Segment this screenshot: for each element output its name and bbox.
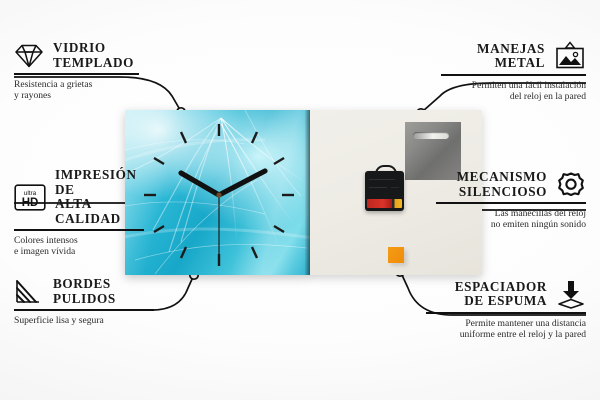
feature-title: MANEJAS METAL (477, 42, 545, 71)
feature-vidrio-templado: VIDRIO TEMPLADO Resistencia a grietas y … (14, 41, 139, 102)
polished-edges-icon (14, 279, 44, 305)
picture-hanger-icon (554, 41, 586, 71)
ultra-hd-icon: ultra HD (14, 184, 46, 211)
feature-description: Permite mantener una distancia uniforme … (426, 318, 586, 341)
feature-rule (14, 73, 139, 75)
feature-manejas-metal: MANEJAS METAL Permiten una fácil instala… (441, 41, 586, 103)
feature-description: Colores intensos e imagen vívida (14, 235, 144, 258)
feature-espaciador-espuma: ESPACIADOR DE ESPUMA Permite mantener un… (426, 279, 586, 341)
feature-impresion-alta-calidad: ultra HD IMPRESIÓN DE ALTA CALIDAD Color… (14, 168, 144, 258)
clock-dial (125, 110, 310, 275)
feature-title: MECANISMO SILENCIOSO (457, 170, 547, 199)
foam-spacer (388, 247, 404, 263)
hanger-keyhole-slot (413, 132, 449, 139)
infographic-canvas: VIDRIO TEMPLADO Resistencia a grietas y … (0, 0, 600, 400)
diamond-icon (14, 43, 44, 69)
foam-spacer-arrow-icon (556, 279, 586, 309)
gear-icon (556, 170, 586, 199)
feature-description: Resistencia a grietas y rayones (14, 79, 139, 102)
battery-label (367, 199, 402, 208)
hands-hub (216, 192, 221, 197)
feature-description: Permiten una fácil instalación del reloj… (441, 80, 586, 103)
feature-rule (14, 309, 154, 311)
feature-description: Superficie lisa y segura (14, 315, 154, 327)
svg-text:HD: HD (22, 197, 39, 209)
feature-rule (441, 74, 586, 76)
feature-rule (426, 312, 586, 314)
feature-bordes-pulidos: BORDES PULIDOS Superficie lisa y segura (14, 277, 154, 326)
svg-text:ultra: ultra (24, 190, 37, 197)
clock-movement (365, 171, 404, 211)
feature-rule (14, 229, 144, 231)
movement-loop-icon (375, 165, 397, 176)
feature-title: IMPRESIÓN DE ALTA CALIDAD (55, 168, 144, 226)
clock-front-image (125, 110, 310, 275)
hour-hand (181, 173, 219, 195)
feature-mecanismo-silencioso: MECANISMO SILENCIOSO Las manecillas del … (436, 170, 586, 231)
feature-title: BORDES PULIDOS (53, 277, 116, 306)
minute-hand (219, 171, 265, 195)
feature-title: ESPACIADOR DE ESPUMA (455, 280, 547, 309)
feature-description: Las manecillas del reloj no emiten ningú… (436, 208, 586, 231)
feature-rule (436, 202, 586, 204)
feature-title: VIDRIO TEMPLADO (53, 41, 134, 70)
